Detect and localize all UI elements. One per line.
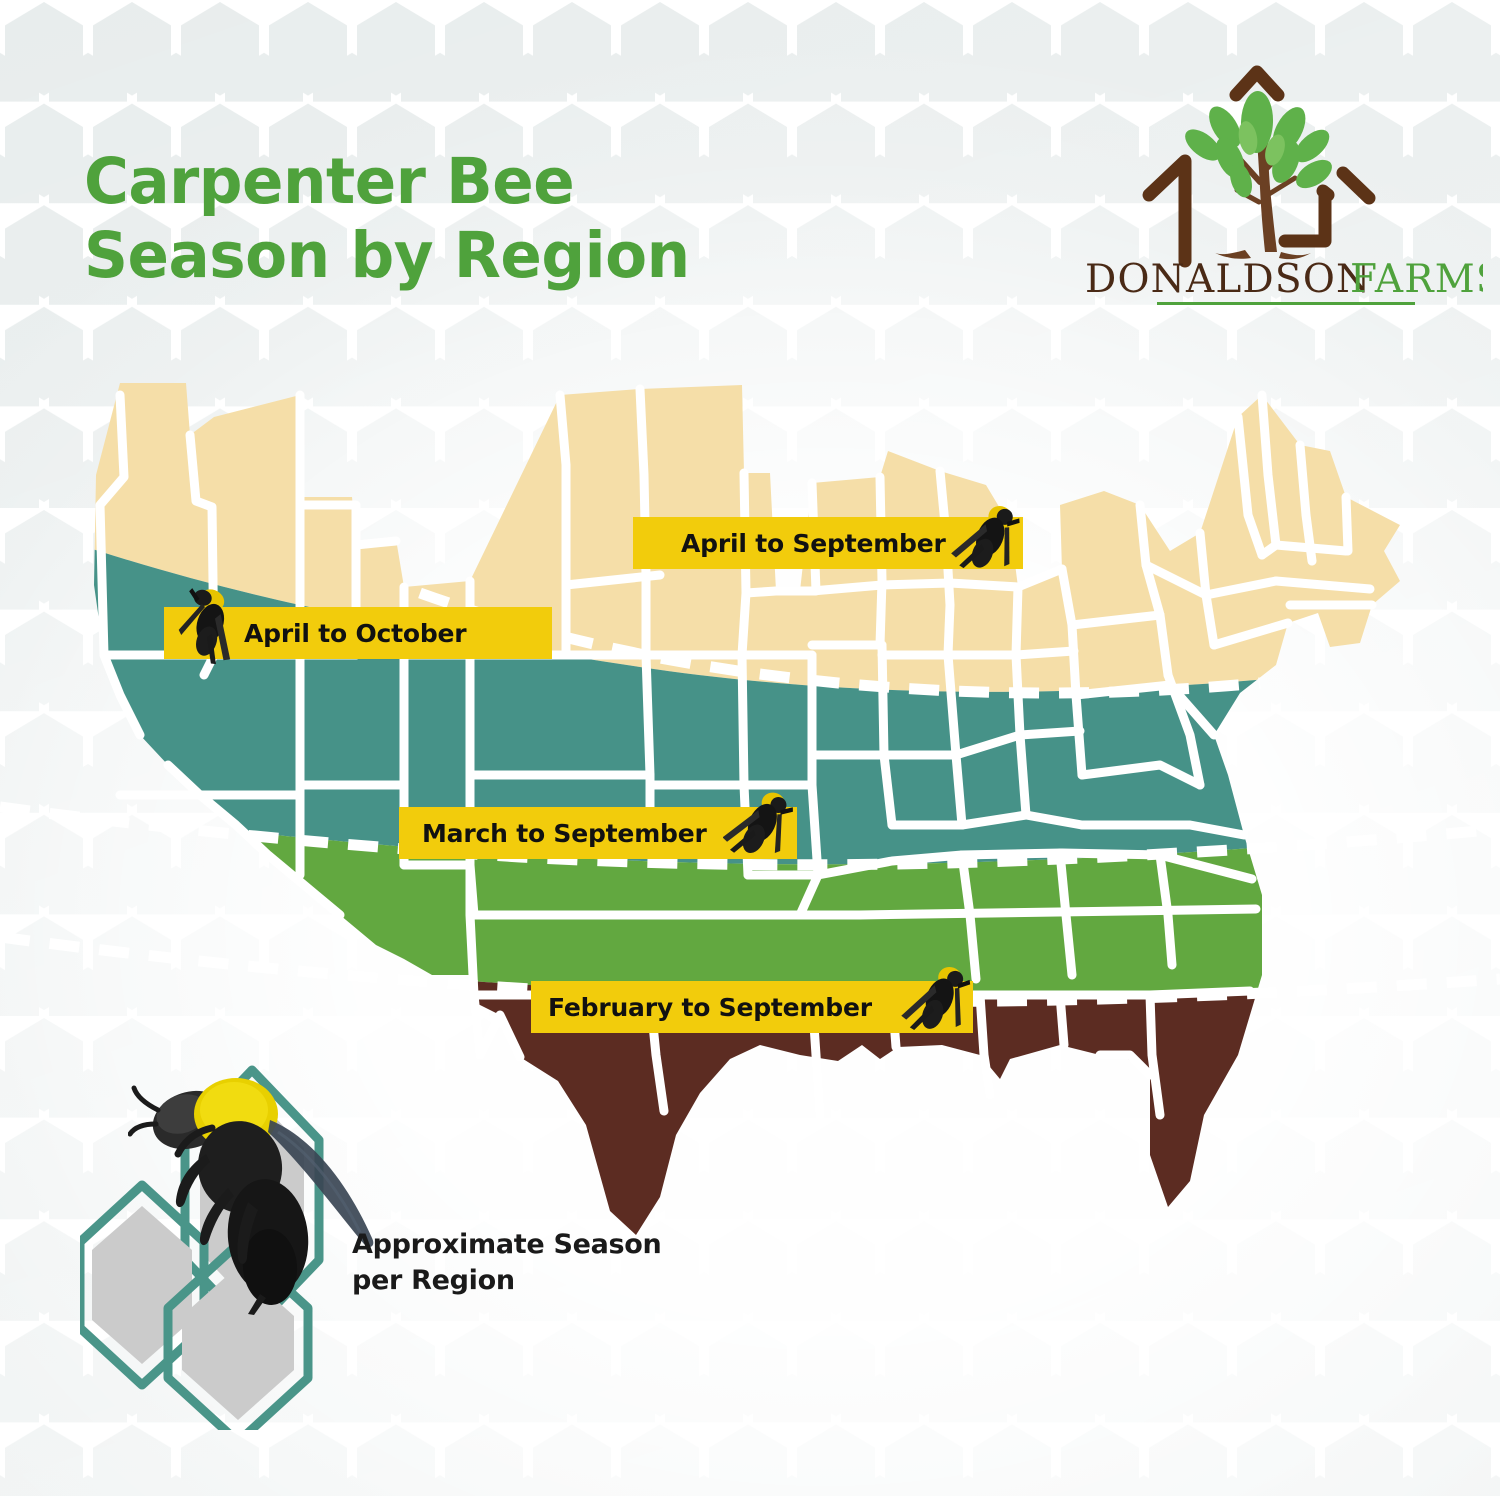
callout-february-to-september[interactable]: February to September xyxy=(531,981,973,1033)
infographic-page: Carpenter Bee Season by Region xyxy=(0,0,1500,1496)
donaldson-farms-logo: DONALDSON FARMS xyxy=(1085,62,1483,312)
callout-april-to-september[interactable]: April to September xyxy=(633,517,1023,569)
callout-label-text: April to September xyxy=(681,529,946,558)
tree-icon xyxy=(1180,90,1337,259)
callout-label-text: February to September xyxy=(548,993,872,1022)
carpenter-bee-photo xyxy=(128,1062,378,1317)
callout-label-text: March to September xyxy=(422,819,707,848)
page-title: Carpenter Bee Season by Region xyxy=(84,145,690,292)
legend-caption: Approximate Season per Region xyxy=(352,1227,661,1299)
callout-label-text: April to October xyxy=(244,619,466,648)
callout-april-to-october[interactable]: April to October xyxy=(164,607,552,659)
logo-brand-secondary: FARMS xyxy=(1350,257,1483,302)
callout-march-to-september[interactable]: March to September xyxy=(399,807,797,859)
logo-brand-primary: DONALDSON xyxy=(1085,257,1371,302)
